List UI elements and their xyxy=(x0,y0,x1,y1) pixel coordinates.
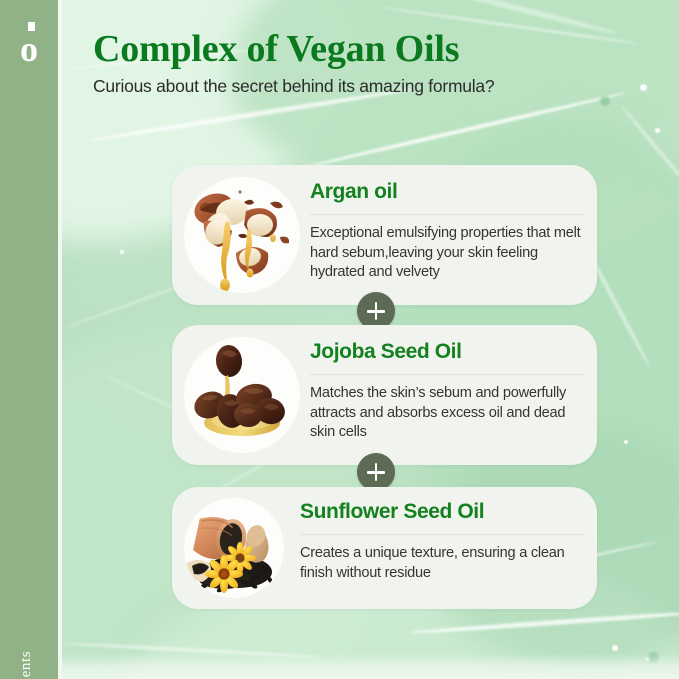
ingredient-name: Sunflower Seed Oil xyxy=(300,499,585,525)
background-bottom-sheen xyxy=(58,653,679,679)
ingredient-card[interactable]: Sunflower Seed Oil Creates a unique text… xyxy=(172,487,597,609)
ingredient-card-body: Sunflower Seed Oil Creates a unique text… xyxy=(300,499,585,583)
gel-bubble xyxy=(624,440,628,444)
ingredient-name: Argan oil xyxy=(310,179,585,205)
ingredient-divider xyxy=(310,374,585,375)
poster-canvas: o Key Ingredients Complex of Vegan Oils … xyxy=(0,0,679,679)
ingredient-card[interactable]: Argan oil Exceptional emulsifying proper… xyxy=(172,165,597,305)
argan-nuts-with-oil-image xyxy=(184,177,300,293)
gel-bubble xyxy=(655,128,660,133)
ingredient-divider xyxy=(310,214,585,215)
plus-vertical-bar xyxy=(375,302,378,320)
ingredient-card[interactable]: Jojoba Seed Oil Matches the skin’s sebum… xyxy=(172,325,597,465)
argan-illustration-icon xyxy=(184,177,300,293)
gel-bubble xyxy=(600,96,610,106)
sidebar-divider xyxy=(58,0,62,679)
ingredient-name: Jojoba Seed Oil xyxy=(310,339,585,365)
plus-icon xyxy=(357,453,395,491)
gel-bubble xyxy=(120,250,124,254)
ingredient-description: Creates a unique texture, ensuring a cle… xyxy=(300,544,585,583)
plus-vertical-bar xyxy=(375,463,378,481)
jojoba-illustration-icon xyxy=(184,337,300,453)
ingredient-card-body: Jojoba Seed Oil Matches the skin’s sebum… xyxy=(310,339,585,443)
gel-bubble xyxy=(612,645,618,651)
ingredient-description: Exceptional emulsifying properties that … xyxy=(310,224,585,283)
page-title: Complex of Vegan Oils xyxy=(93,28,459,70)
sunflower-illustration-icon xyxy=(184,498,284,598)
ingredient-description: Matches the skin’s sebum and powerfully … xyxy=(310,384,585,443)
sidebar-rail: o Key Ingredients xyxy=(0,0,58,679)
brand-logo-icon[interactable]: o xyxy=(0,31,58,67)
sunflower-seeds-mortar-image xyxy=(184,498,284,598)
jojoba-seeds-image xyxy=(184,337,300,453)
gel-bubble xyxy=(640,84,647,91)
ingredient-divider xyxy=(300,534,585,535)
page-subtitle: Curious about the secret behind its amaz… xyxy=(93,75,494,97)
ingredient-card-body: Argan oil Exceptional emulsifying proper… xyxy=(310,179,585,283)
sidebar-vertical-label: Key Ingredients xyxy=(18,566,35,679)
